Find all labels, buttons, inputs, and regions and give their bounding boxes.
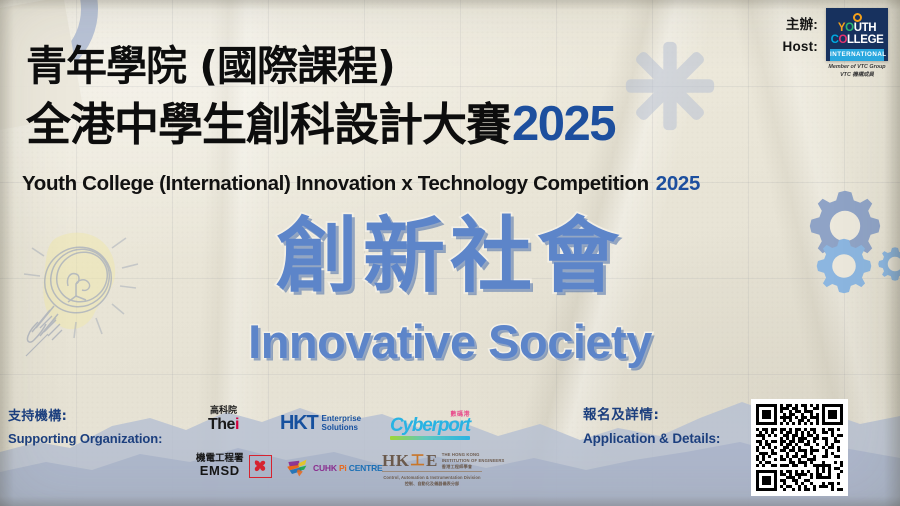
partner-logo-emsd: 機電工程署 EMSD bbox=[196, 454, 272, 478]
youth-college-band-international: INTERNATIONAL bbox=[830, 49, 884, 61]
youth-college-word-youth: YOUTH bbox=[838, 23, 876, 35]
title-line-1: 青年學院 (國際課程) bbox=[26, 46, 395, 87]
youth-college-word-college: COLLEGE bbox=[831, 35, 884, 47]
partner-logo-cuhk-pi-centre: CUHK Pi CENTRE bbox=[286, 458, 383, 478]
partner-logo-hkt: HKT Enterprise Solutions bbox=[280, 413, 361, 433]
hkt-sub-line2: Solutions bbox=[322, 423, 362, 432]
subtitle-year: 2025 bbox=[656, 172, 700, 196]
subtitle-english: Youth College (International) Innovation… bbox=[22, 172, 649, 196]
application-qr-code[interactable] bbox=[751, 399, 848, 496]
hkie-side-line3: 香港工程師學會 bbox=[442, 464, 505, 470]
thei-logo-accent-letter: i bbox=[235, 416, 239, 433]
qr-code-icon bbox=[756, 404, 843, 491]
hkie-mark-e: E bbox=[426, 452, 438, 469]
title-line-2-cjk: 全港中學生創科設計大賽 bbox=[26, 102, 510, 147]
title-year: 2025 bbox=[512, 100, 615, 149]
theme-title-cjk: 創新社會 bbox=[0, 216, 900, 298]
cuhk-word-part1: CUHK bbox=[313, 463, 337, 473]
cyberport-wordmark: Cyberport bbox=[390, 417, 470, 435]
hkie-institution-text: THE HONG KONG INSTITUTION OF ENGINEERS 香… bbox=[442, 452, 505, 469]
title-line-2: 全港中學生創科設計大賽 2025 bbox=[26, 100, 615, 149]
emsd-emblem-icon bbox=[249, 455, 272, 478]
hkt-wordmark: HKT bbox=[280, 413, 318, 433]
thei-logo-main-text: The bbox=[208, 416, 235, 433]
partner-logo-thei: 高科院 Thei bbox=[208, 407, 239, 434]
poster-canvas: 主辦: Host: YOUTH COLLEGE INTERNATIONAL Me… bbox=[0, 0, 900, 506]
cuhk-bird-icon bbox=[286, 458, 310, 478]
asterisk-icon bbox=[622, 38, 718, 134]
emsd-emblem-glyph bbox=[252, 458, 268, 474]
host-label-cjk: 主辦: bbox=[783, 14, 819, 36]
theme-title-english: Innovative Society bbox=[0, 318, 900, 365]
application-label-en: Application & Details: bbox=[583, 427, 720, 450]
cyberport-gradient-bar-icon bbox=[390, 436, 470, 440]
hkie-side-line2: INSTITUTION OF ENGINEERS bbox=[442, 458, 505, 464]
youth-college-logo: YOUTH COLLEGE INTERNATIONAL Member of VT… bbox=[826, 8, 888, 80]
cuhk-wordmark: CUHK Pi CENTRE bbox=[313, 464, 383, 473]
cuhk-word-part2: Pi bbox=[339, 463, 347, 473]
thei-logo-wordmark: Thei bbox=[208, 417, 239, 434]
supporting-label-cjk: 支持機構: bbox=[8, 406, 162, 428]
hkie-divider bbox=[382, 471, 482, 472]
edge-shadow-top bbox=[0, 0, 900, 10]
partner-logo-hkie: HK工E THE HONG KONG INSTITUTION OF ENGINE… bbox=[382, 452, 505, 487]
host-block: 主辦: Host: YOUTH COLLEGE INTERNATIONAL Me… bbox=[783, 8, 889, 80]
hkt-sub-line1: Enterprise bbox=[322, 414, 362, 423]
host-label-en: Host: bbox=[783, 36, 819, 58]
hkie-division-text: Control, Automation & Instrumentation Di… bbox=[382, 475, 482, 486]
vtc-member-line2: VTC 機構成員 bbox=[826, 72, 888, 80]
hkie-division-cjk: 控制、自動化及儀器儀表分部 bbox=[382, 481, 482, 487]
partner-logos: 高科院 Thei HKT Enterprise Solutions 數碼港 Cy… bbox=[190, 404, 520, 500]
host-labels: 主辦: Host: bbox=[783, 8, 819, 58]
application-label-cjk: 報名及詳情: bbox=[583, 404, 720, 427]
hkie-logo-row: HK工E THE HONG KONG INSTITUTION OF ENGINE… bbox=[382, 452, 505, 469]
logo-dot-icon bbox=[853, 13, 862, 22]
supporting-organization-labels: 支持機構: Supporting Organization: bbox=[8, 406, 162, 450]
partner-logo-cyberport: 數碼港 Cyberport bbox=[390, 409, 470, 440]
vtc-member-line1: Member of VTC Group bbox=[826, 64, 888, 72]
emsd-logo-en: EMSD bbox=[196, 464, 244, 479]
hkie-mark-gong: 工 bbox=[410, 454, 425, 468]
hkie-wordmark: HK工E bbox=[382, 452, 438, 469]
thei-logo-cjk: 高科院 bbox=[208, 407, 239, 416]
hkie-mark-hk: HK bbox=[382, 452, 409, 469]
application-labels: 報名及詳情: Application & Details: bbox=[583, 404, 720, 450]
youth-college-badge: YOUTH COLLEGE INTERNATIONAL bbox=[826, 8, 888, 61]
subtitle: Youth College (International) Innovation… bbox=[22, 172, 700, 196]
hkt-sub-wordmark: Enterprise Solutions bbox=[322, 414, 362, 433]
emsd-wordmark: 機電工程署 EMSD bbox=[196, 454, 244, 478]
vtc-member-note: Member of VTC Group VTC 機構成員 bbox=[826, 64, 888, 80]
supporting-label-en: Supporting Organization: bbox=[8, 428, 162, 450]
cuhk-word-part3: CENTRE bbox=[349, 463, 383, 473]
